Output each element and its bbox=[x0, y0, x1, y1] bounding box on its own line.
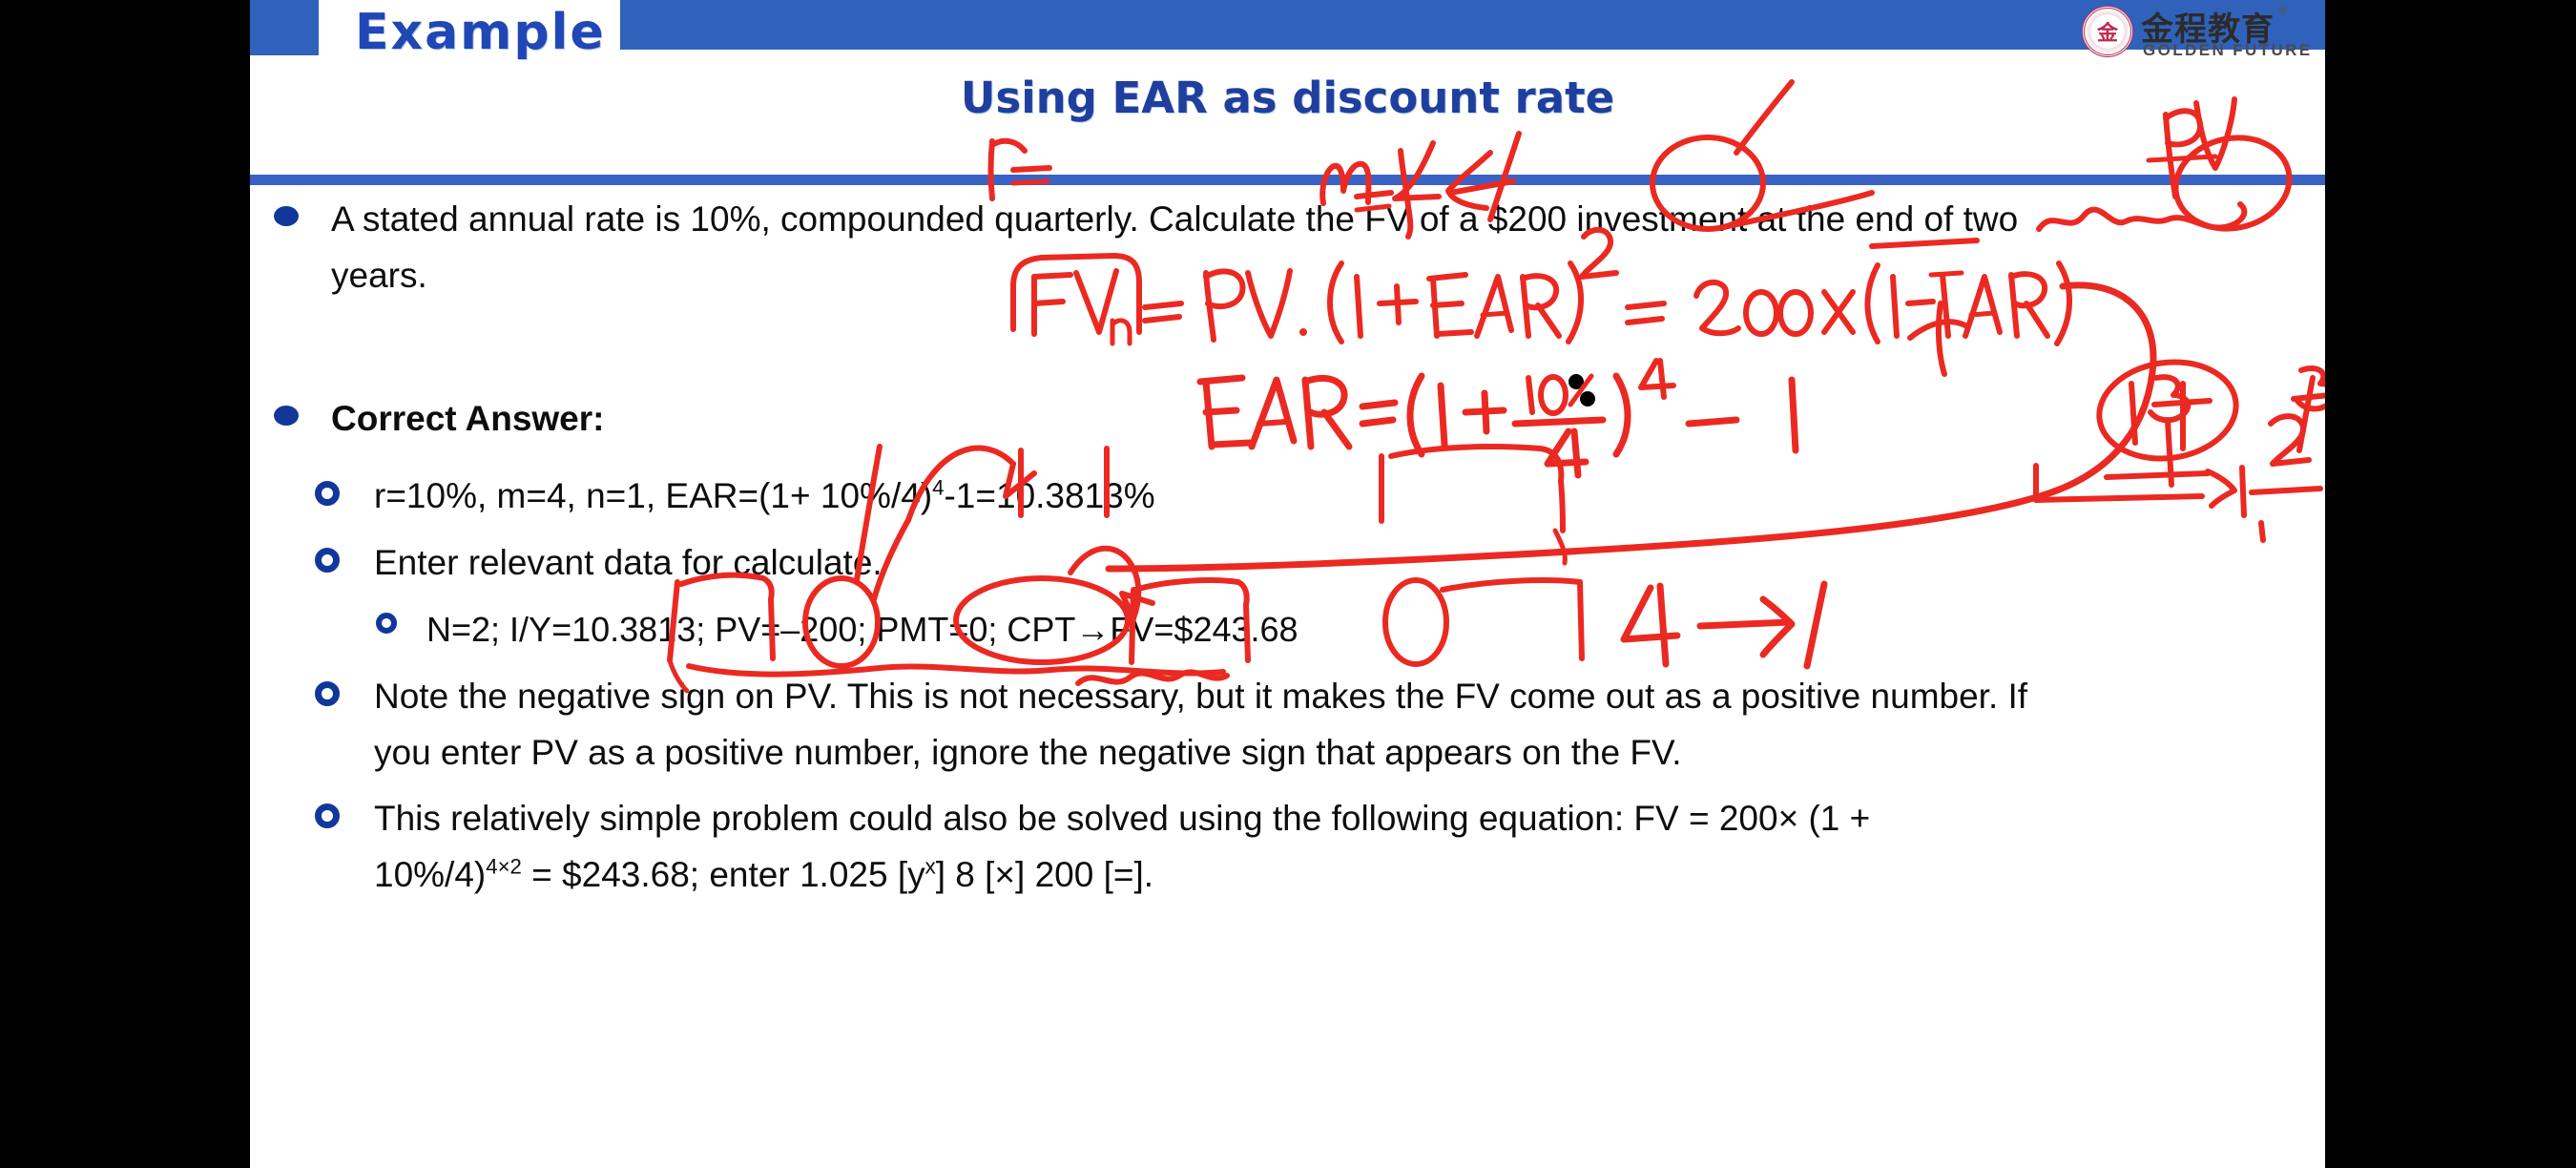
slide-header-title: Example bbox=[355, 4, 622, 61]
bullet-disc-icon bbox=[274, 406, 299, 426]
list-item: r=10%, m=4, n=1, EAR=(1+ 10%/4)4-1=10.38… bbox=[250, 468, 2311, 524]
list-item: Correct Answer: bbox=[250, 390, 2311, 447]
list-item-line: you enter PV as a positive number, ignor… bbox=[374, 724, 2311, 781]
slide-subtitle: Using EAR as discount rate bbox=[250, 73, 2325, 123]
logo-registered-icon: ® bbox=[2278, 3, 2288, 17]
list-item-line: Enter relevant data for calculate. bbox=[374, 534, 2311, 591]
list-item: This relatively simple problem could als… bbox=[250, 790, 2311, 903]
presentation-slide: Example 金程教育 ® GOLDEN FUTURE Using EAR a… bbox=[250, 0, 2325, 1168]
logo-english-name: GOLDEN FUTURE bbox=[2143, 41, 2313, 60]
list-item-line: This relatively simple problem could als… bbox=[374, 790, 2311, 846]
header-divider-rule bbox=[250, 175, 2325, 185]
bullet-ring-icon bbox=[315, 548, 340, 573]
list-item-line: Correct Answer: bbox=[331, 390, 2311, 447]
header-accent-block-left bbox=[250, 0, 319, 55]
bullet-ring-icon bbox=[315, 481, 340, 506]
ink-note-r-equals bbox=[991, 141, 1050, 198]
list-item: N=2; I/Y=10.3813; PV=–200; PMT=0; CPT→FV… bbox=[250, 601, 2311, 657]
header-accent-block-right bbox=[620, 0, 2325, 50]
list-item-line: 10%/4)4×2 = $243.68; enter 1.025 [yx] 8 … bbox=[374, 846, 2311, 903]
list-item-line: Note the negative sign on PV. This is no… bbox=[374, 668, 2311, 724]
screen-letterbox: Example 金程教育 ® GOLDEN FUTURE Using EAR a… bbox=[0, 0, 2576, 1168]
list-item: Note the negative sign on PV. This is no… bbox=[250, 668, 2311, 781]
bullet-ring-small-icon bbox=[376, 613, 397, 634]
list-item-line: N=2; I/Y=10.3813; PV=–200; PMT=0; CPT→FV… bbox=[426, 601, 2311, 657]
list-item: A stated annual rate is 10%, compounded … bbox=[250, 191, 2311, 303]
list-item: Enter relevant data for calculate. bbox=[250, 534, 2311, 591]
list-item-line: years. bbox=[331, 247, 2311, 303]
brand-logo: 金程教育 ® GOLDEN FUTURE bbox=[2082, 3, 2311, 62]
bullet-disc-icon bbox=[274, 206, 299, 226]
list-item-line: A stated annual rate is 10%, compounded … bbox=[331, 191, 2311, 247]
bullet-ring-icon bbox=[315, 681, 340, 706]
list-item-line: r=10%, m=4, n=1, EAR=(1+ 10%/4)4-1=10.38… bbox=[374, 468, 2311, 524]
logo-seal-icon bbox=[2082, 6, 2133, 57]
bullet-ring-icon bbox=[315, 803, 340, 828]
